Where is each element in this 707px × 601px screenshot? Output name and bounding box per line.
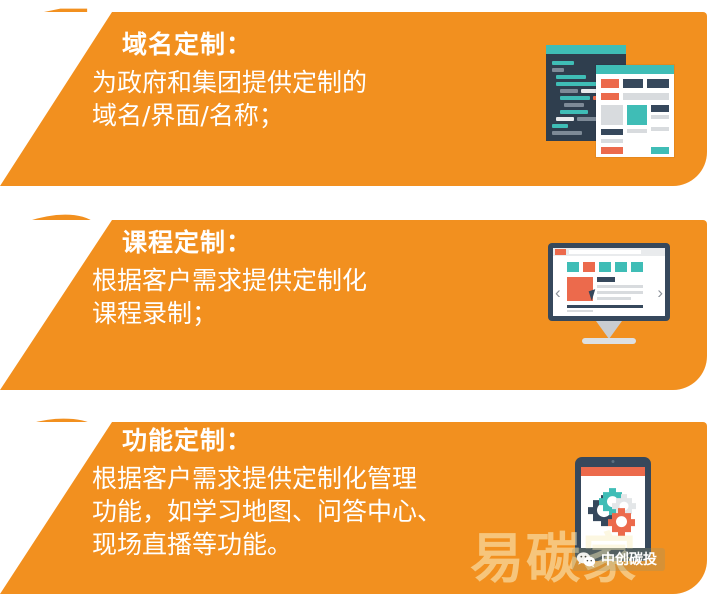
feature-body-2: 根据客户需求提供定制化 课程录制； [92, 264, 367, 330]
feature-title-1: 域名定制： [122, 30, 367, 60]
feature-title-3: 功能定制： [122, 426, 442, 456]
monitor-stand-neck [596, 321, 622, 339]
browser-toolbar [553, 248, 665, 256]
wechat-account-badge: 中创碳投 [572, 548, 665, 571]
camera-icon [612, 460, 615, 463]
infographic-canvas: 1 域名定制： 为政府和集团提供定制的 域名/界面/名称； [0, 0, 707, 601]
feature-block-1: 1 域名定制： 为政府和集团提供定制的 域名/界面/名称； [0, 0, 707, 196]
monitor-screen: ‹ › [553, 248, 665, 316]
feature-text-1: 域名定制： 为政府和集团提供定制的 域名/界面/名称； [88, 30, 367, 132]
feature-block-2: 2 课程定制： 根据客户需求提供定制化 课程录制； [0, 196, 707, 396]
wechat-icon [576, 551, 596, 568]
chevron-right-icon: › [657, 284, 663, 301]
feature-title-2: 课程定制： [122, 228, 367, 258]
feature-text-3: 功能定制： 根据客户需求提供定制化管理 功能，如学习地图、问答中心、 现场直播等… [88, 426, 442, 561]
webpage-mockup-window [596, 65, 674, 157]
feature-body-1: 为政府和集团提供定制的 域名/界面/名称； [92, 66, 367, 132]
window-titlebar [546, 45, 626, 54]
app-header-bar [581, 467, 645, 476]
code-window-and-webpage-illustration [540, 45, 690, 160]
monitor-bezel: ‹ › [548, 243, 670, 321]
wechat-account-name: 中创碳投 [601, 552, 657, 568]
monitor-stand-base [582, 338, 636, 344]
feature-body-3: 根据客户需求提供定制化管理 功能，如学习地图、问答中心、 现场直播等功能。 [92, 462, 442, 561]
desktop-monitor-webpage-illustration: ‹ › [548, 243, 670, 347]
feature-text-2: 课程定制： 根据客户需求提供定制化 课程录制； [88, 228, 367, 330]
chevron-left-icon: ‹ [555, 284, 561, 301]
window-titlebar [596, 65, 674, 74]
